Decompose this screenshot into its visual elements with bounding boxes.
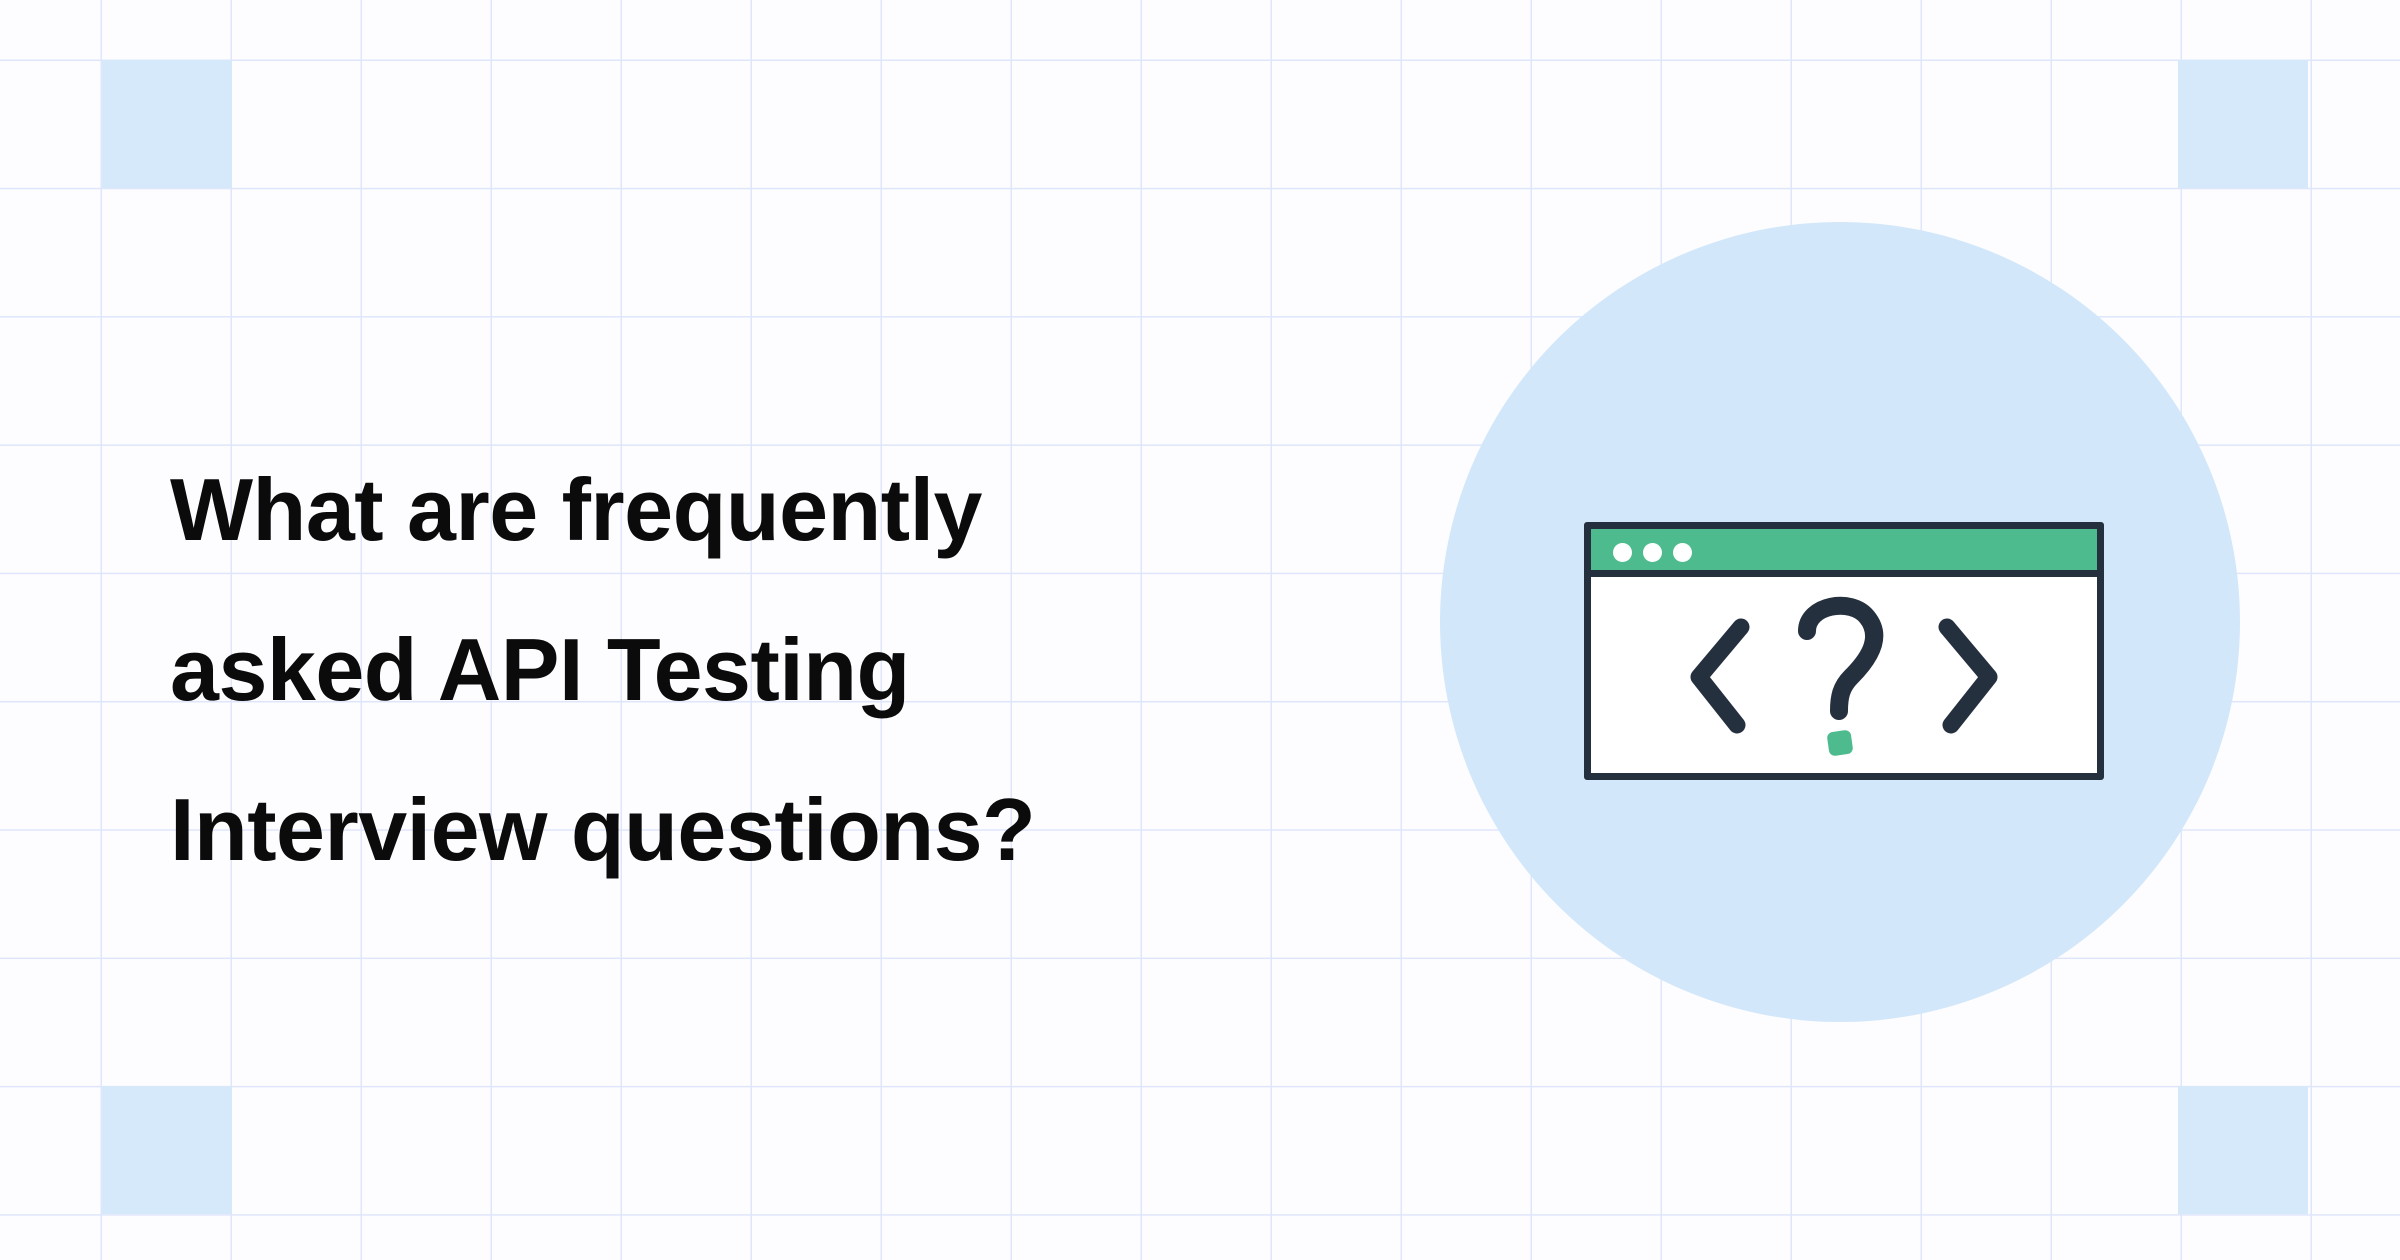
headline-line-3: Interview questions?: [170, 750, 1350, 910]
traffic-light-dot-1-icon: [1613, 543, 1632, 562]
browser-content-area: [1591, 577, 2097, 773]
grid-cell-top-left: [102, 60, 232, 188]
slide-canvas: What are frequently asked API Testing In…: [0, 0, 2400, 1260]
grid-cell-bottom-left: [102, 1086, 232, 1214]
traffic-light-dot-3-icon: [1673, 543, 1692, 562]
headline-line-1: What are frequently: [170, 430, 1350, 590]
headline: What are frequently asked API Testing In…: [170, 430, 1350, 910]
illustration: [1440, 222, 2240, 1022]
traffic-light-dot-2-icon: [1643, 543, 1662, 562]
grid-cell-bottom-right: [2178, 1086, 2308, 1214]
browser-title-bar: [1591, 529, 2097, 577]
headline-line-2: asked API Testing: [170, 590, 1350, 750]
code-question-mark-icon: [1679, 585, 2009, 765]
grid-cell-top-right: [2178, 60, 2308, 188]
browser-window-illustration: [1584, 522, 2104, 780]
